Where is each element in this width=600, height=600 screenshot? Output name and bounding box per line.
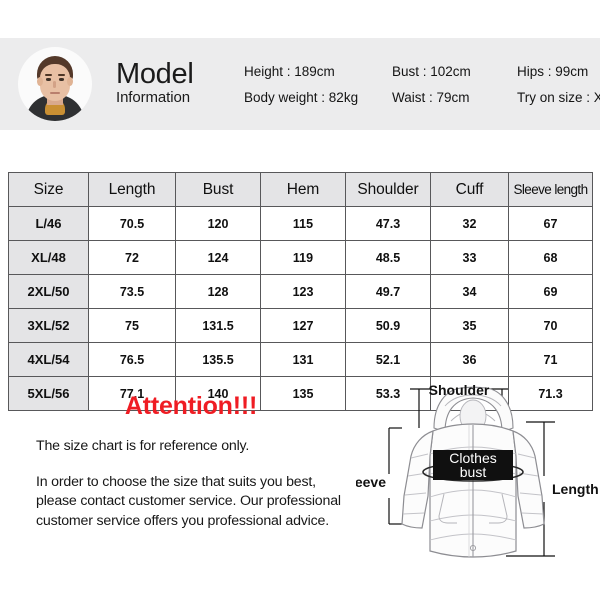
- table-row: L/46 70.5 120 115 47.3 32 67: [9, 207, 593, 241]
- attention-reference-note: The size chart is for reference only.: [36, 437, 346, 456]
- cell-size: XL/48: [9, 241, 89, 275]
- cell-bust: 128: [176, 275, 261, 309]
- cell-shoulder: 50.9: [346, 309, 431, 343]
- model-spec-body-weight: Body weight : 82kg: [244, 90, 392, 105]
- cell-shoulder: 48.5: [346, 241, 431, 275]
- column-header-sleeve-length: Sleeve length: [509, 173, 593, 207]
- table-row: 3XL/52 75 131.5 127 50.9 35 70: [9, 309, 593, 343]
- cell-cuff: 33: [431, 241, 509, 275]
- model-specs-grid: Height : 189cm Bust : 102cm Hips : 99cm …: [244, 64, 600, 105]
- column-header-bust: Bust: [176, 173, 261, 207]
- cell-cuff: 34: [431, 275, 509, 309]
- cell-cuff: 36: [431, 343, 509, 377]
- cell-size: L/46: [9, 207, 89, 241]
- table-header-row: Size Length Bust Hem Shoulder Cuff Sleev…: [9, 173, 593, 207]
- label-length: Length: [552, 481, 599, 497]
- model-information-band: Model Information Height : 189cm Bust : …: [0, 38, 600, 130]
- model-information-title: Model Information: [116, 60, 234, 108]
- cell-sleeve-length: 68: [509, 241, 593, 275]
- column-header-shoulder: Shoulder: [346, 173, 431, 207]
- attention-title: Attention!!!: [36, 392, 346, 421]
- cell-cuff: 32: [431, 207, 509, 241]
- cell-sleeve-length: 70: [509, 309, 593, 343]
- cell-length: 72: [89, 241, 176, 275]
- cell-size: 2XL/50: [9, 275, 89, 309]
- cell-length: 73.5: [89, 275, 176, 309]
- eyebrow-right-shape: [58, 74, 65, 76]
- model-spec-hips: Hips : 99cm: [517, 64, 600, 79]
- model-title-primary: Model: [116, 60, 234, 89]
- model-spec-bust: Bust : 102cm: [392, 64, 517, 79]
- model-avatar: [18, 47, 92, 121]
- label-clothes-bust-line2: bust: [460, 464, 487, 480]
- cell-hem: 119: [261, 241, 346, 275]
- table-row: 4XL/54 76.5 135.5 131 52.1 36 71: [9, 343, 593, 377]
- cell-hem: 131: [261, 343, 346, 377]
- eye-right-shape: [59, 78, 64, 81]
- cell-hem: 127: [261, 309, 346, 343]
- cell-cuff: 35: [431, 309, 509, 343]
- cell-sleeve-length: 71: [509, 343, 593, 377]
- ear-left-shape: [37, 77, 43, 86]
- cell-size: 3XL/52: [9, 309, 89, 343]
- eyebrow-left-shape: [45, 74, 52, 76]
- attention-service-paragraph: In order to choose the size that suits y…: [36, 473, 346, 531]
- cell-sleeve-length: 69: [509, 275, 593, 309]
- column-header-cuff: Cuff: [431, 173, 509, 207]
- cell-hem: 115: [261, 207, 346, 241]
- cell-length: 75: [89, 309, 176, 343]
- column-header-hem: Hem: [261, 173, 346, 207]
- cell-hem: 123: [261, 275, 346, 309]
- model-title-secondary: Information: [116, 89, 234, 108]
- eye-left-shape: [46, 78, 51, 81]
- cell-shoulder: 47.3: [346, 207, 431, 241]
- cell-length: 76.5: [89, 343, 176, 377]
- cell-bust: 124: [176, 241, 261, 275]
- model-spec-height: Height : 189cm: [244, 64, 392, 79]
- jacket-measurement-diagram: Shoulder Sleeve Length Clothes bust: [356, 376, 600, 600]
- table-row: 2XL/50 73.5 128 123 49.7 34 69: [9, 275, 593, 309]
- mouth-shape: [50, 92, 60, 94]
- cell-bust: 120: [176, 207, 261, 241]
- cell-sleeve-length: 67: [509, 207, 593, 241]
- ear-right-shape: [67, 77, 73, 86]
- column-header-size: Size: [9, 173, 89, 207]
- cell-bust: 131.5: [176, 309, 261, 343]
- cell-shoulder: 49.7: [346, 275, 431, 309]
- sleeve-dimension-line: [389, 428, 402, 524]
- label-sleeve: Sleeve: [356, 474, 386, 490]
- cell-bust: 135.5: [176, 343, 261, 377]
- model-spec-waist: Waist : 79cm: [392, 90, 517, 105]
- table-row: XL/48 72 124 119 48.5 33 68: [9, 241, 593, 275]
- label-shoulder: Shoulder: [429, 382, 490, 398]
- attention-block: Attention!!! The size chart is for refer…: [36, 392, 346, 531]
- cell-length: 70.5: [89, 207, 176, 241]
- column-header-length: Length: [89, 173, 176, 207]
- cell-size: 4XL/54: [9, 343, 89, 377]
- model-spec-try-on-size: Try on size : XL: [517, 90, 600, 105]
- nose-shape: [53, 81, 56, 88]
- cell-shoulder: 52.1: [346, 343, 431, 377]
